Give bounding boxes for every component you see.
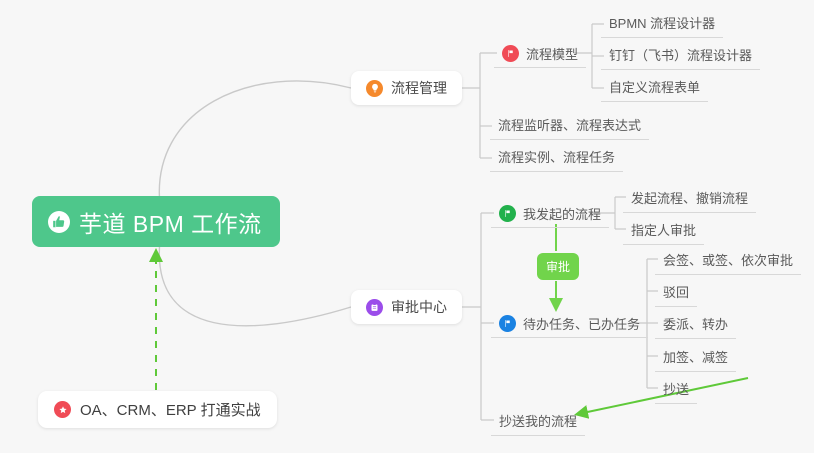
leaf-liuchengshili[interactable]: 流程实例、流程任务 bbox=[490, 147, 623, 172]
flag-icon bbox=[499, 205, 516, 222]
leaf-daiban-yiban[interactable]: 待办任务、已办任务 bbox=[491, 314, 648, 338]
flag-icon bbox=[502, 45, 519, 62]
mindmap-canvas: 芋道 BPM 工作流 流程管理 流程模型 流程监听器、流程表达式 流程实例、流程… bbox=[0, 0, 814, 453]
annotation-node-datong[interactable]: OA、CRM、ERP 打通实战 bbox=[38, 391, 277, 428]
leaf-huiqian-huoqian[interactable]: 会签、或签、依次审批 bbox=[655, 250, 801, 275]
leaf-faqi-chexiao[interactable]: 发起流程、撤销流程 bbox=[623, 188, 756, 213]
thumbs-up-icon bbox=[48, 211, 70, 233]
branch-label: 审批中心 bbox=[391, 297, 447, 317]
leaf-label: 待办任务、已办任务 bbox=[523, 314, 640, 333]
leaf-jiaqian-jianqian[interactable]: 加签、减签 bbox=[655, 347, 736, 372]
edge-root-to-shenpizhongxin bbox=[159, 240, 351, 326]
branch-node-liuchengguanli[interactable]: 流程管理 bbox=[351, 71, 462, 105]
flag-icon bbox=[499, 315, 516, 332]
leaf-chaosongwodeliucheng[interactable]: 抄送我的流程 bbox=[491, 411, 585, 436]
leaf-liuchengjiantingqi[interactable]: 流程监听器、流程表达式 bbox=[490, 115, 649, 140]
leaf-chaosong[interactable]: 抄送 bbox=[655, 379, 697, 404]
root-label: 芋道 BPM 工作流 bbox=[79, 205, 262, 239]
leaf-label: 流程模型 bbox=[526, 44, 578, 63]
leaf-wofaqideliucheng[interactable]: 我发起的流程 bbox=[491, 204, 609, 228]
lightbulb-icon bbox=[366, 80, 383, 97]
leaf-zhidingren-shenpi[interactable]: 指定人审批 bbox=[623, 220, 704, 245]
edge-root-to-liuchengguanli bbox=[159, 81, 351, 205]
leaf-bpmn-designer[interactable]: BPMN 流程设计器 bbox=[601, 13, 723, 38]
branch-label: 流程管理 bbox=[391, 78, 447, 98]
leaf-custom-form[interactable]: 自定义流程表单 bbox=[601, 77, 708, 102]
leaf-label: 我发起的流程 bbox=[523, 204, 601, 223]
star-badge-icon bbox=[54, 401, 71, 418]
annotation-label: OA、CRM、ERP 打通实战 bbox=[80, 399, 261, 420]
leaf-liuchengmoxing[interactable]: 流程模型 bbox=[494, 44, 586, 68]
leaf-dingding-designer[interactable]: 钉钉（飞书）流程设计器 bbox=[601, 45, 760, 70]
clipboard-icon bbox=[366, 299, 383, 316]
leaf-bohui[interactable]: 驳回 bbox=[655, 282, 697, 307]
leaf-weipai-zhuanban[interactable]: 委派、转办 bbox=[655, 314, 736, 339]
badge-shenpi[interactable]: 审批 bbox=[537, 253, 579, 280]
branch-node-shenpizhongxin[interactable]: 审批中心 bbox=[351, 290, 462, 324]
root-node[interactable]: 芋道 BPM 工作流 bbox=[32, 196, 280, 247]
